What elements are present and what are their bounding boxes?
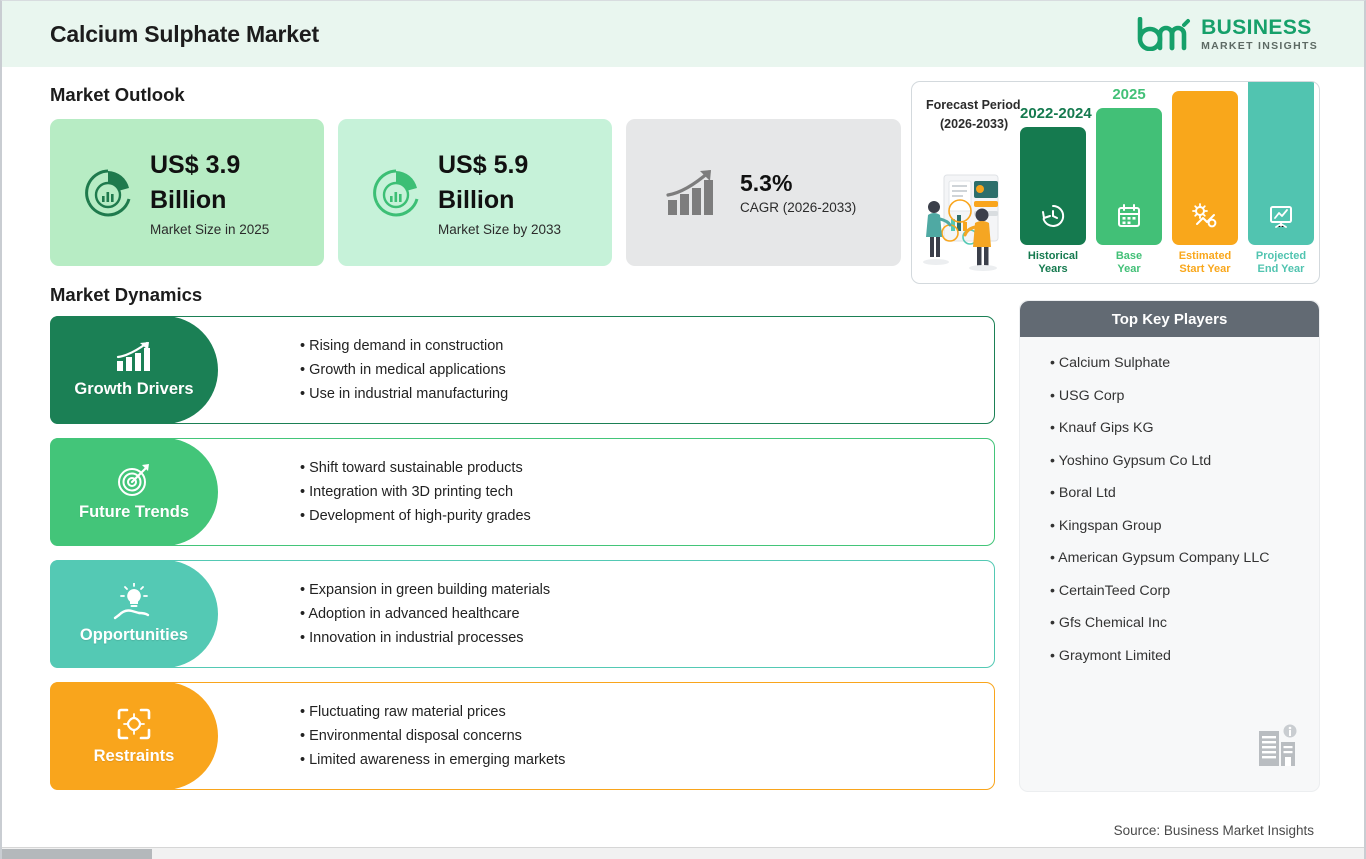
infographic-page: Calcium Sulphate Market BUSINESS MARKET … bbox=[0, 0, 1366, 859]
bar-caption-line2: Year bbox=[1096, 263, 1162, 277]
list-item: Boral Ltd bbox=[1050, 485, 1319, 501]
market-size-2025-card: US$ 3.9 Billion Market Size in 2025 bbox=[50, 119, 324, 266]
bar-shape bbox=[1096, 108, 1162, 245]
forecast-bars: 2022-2024 Historical Years 2025 bbox=[1012, 82, 1320, 284]
top-key-players-title: Top Key Players bbox=[1020, 301, 1319, 337]
page-title: Calcium Sulphate Market bbox=[50, 21, 319, 48]
forecast-bar-historical: 2022-2024 Historical Years bbox=[1020, 105, 1086, 278]
dynamics-tab: Opportunities bbox=[50, 560, 218, 668]
horizontal-scrollbar[interactable] bbox=[2, 847, 1364, 859]
card-value-line2: Billion bbox=[150, 183, 269, 218]
top-key-players-panel: Top Key Players Calcium Sulphate USG Cor… bbox=[1019, 300, 1320, 792]
dynamics-points: Rising demand in construction Growth in … bbox=[218, 317, 994, 423]
list-item: USG Corp bbox=[1050, 388, 1319, 404]
lightbulb-hand-icon bbox=[113, 583, 155, 621]
dynamics-point: Environmental disposal concerns bbox=[300, 728, 994, 744]
forecast-label-line1: Forecast Period bbox=[926, 96, 1020, 115]
dynamics-point: Adoption in advanced healthcare bbox=[300, 606, 994, 622]
growth-arrow-chart-icon bbox=[664, 167, 722, 219]
dynamics-row-growth-drivers: Growth Drivers Rising demand in construc… bbox=[50, 316, 995, 424]
dynamics-point: Innovation in industrial processes bbox=[300, 630, 994, 646]
bar-caption-line1: Base bbox=[1096, 250, 1162, 264]
dynamics-tab-label: Restraints bbox=[94, 747, 175, 766]
cagr-card: 5.3% CAGR (2026-2033) bbox=[626, 119, 901, 266]
dynamics-row-opportunities: Opportunities Expansion in green buildin… bbox=[50, 560, 995, 668]
forecast-bar-projected: 2033 Projected End Year bbox=[1248, 81, 1314, 277]
dynamics-point: Rising demand in construction bbox=[300, 338, 994, 354]
forecast-bar-estimated: 2026 Estimated Start Year bbox=[1172, 81, 1238, 277]
calendar-icon bbox=[1116, 203, 1142, 229]
bar-year-label: 2025 bbox=[1096, 86, 1162, 103]
card-value-line2: Billion bbox=[438, 183, 561, 218]
forecast-label-line2: (2026-2033) bbox=[926, 115, 1020, 134]
list-item: Gfs Chemical Inc bbox=[1050, 615, 1319, 631]
card-text: US$ 5.9 Billion Market Size by 2033 bbox=[438, 148, 561, 237]
dynamics-tab-label: Growth Drivers bbox=[74, 380, 193, 399]
dynamics-points: Expansion in green building materials Ad… bbox=[218, 561, 994, 667]
list-item: Kingspan Group bbox=[1050, 518, 1319, 534]
list-item: CertainTeed Corp bbox=[1050, 583, 1319, 599]
card-text: 5.3% CAGR (2026-2033) bbox=[740, 170, 856, 215]
bar-shape bbox=[1172, 91, 1238, 245]
dynamics-point: Limited awareness in emerging markets bbox=[300, 752, 994, 768]
list-item: Yoshino Gypsum Co Ltd bbox=[1050, 453, 1319, 469]
card-value-line1: US$ 5.9 bbox=[438, 148, 561, 183]
dynamics-point: Development of high-purity grades bbox=[300, 508, 994, 524]
donut-chart-icon bbox=[80, 165, 136, 221]
bar-shape bbox=[1020, 127, 1086, 245]
logo-primary-text: BUSINESS bbox=[1201, 17, 1318, 38]
market-dynamics-title: Market Dynamics bbox=[50, 284, 202, 306]
card-value-line1: US$ 3.9 bbox=[150, 148, 269, 183]
gear-settings-icon bbox=[1192, 203, 1218, 229]
list-item: American Gypsum Company LLC bbox=[1050, 550, 1319, 566]
list-item: Knauf Gips KG bbox=[1050, 420, 1319, 436]
scrollbar-thumb[interactable] bbox=[2, 849, 152, 859]
brand-logo: BUSINESS MARKET INSIGHTS bbox=[1136, 17, 1318, 52]
bar-caption-line1: Estimated bbox=[1172, 250, 1238, 264]
dynamics-tab: Growth Drivers bbox=[50, 316, 218, 424]
cagr-caption: CAGR (2026-2033) bbox=[740, 200, 856, 215]
page-header: Calcium Sulphate Market BUSINESS MARKET … bbox=[2, 1, 1364, 67]
market-outlook-title: Market Outlook bbox=[50, 84, 185, 106]
forecast-bar-base: 2025 Base Year bbox=[1096, 86, 1162, 278]
key-players-list: Calcium Sulphate USG Corp Knauf Gips KG … bbox=[1020, 337, 1319, 664]
source-caption: Source: Business Market Insights bbox=[1114, 823, 1314, 838]
bar-caption-line2: Start Year bbox=[1172, 263, 1238, 277]
dynamics-point: Use in industrial manufacturing bbox=[300, 386, 994, 402]
bar-caption-line2: End Year bbox=[1248, 263, 1314, 277]
dynamics-point: Fluctuating raw material prices bbox=[300, 704, 994, 720]
list-item: Calcium Sulphate bbox=[1050, 355, 1319, 371]
company-buildings-info-icon bbox=[1256, 724, 1300, 768]
bar-chart-arrow-icon bbox=[114, 341, 154, 375]
bar-caption-line2: Years bbox=[1020, 263, 1086, 277]
clock-history-icon bbox=[1040, 203, 1066, 229]
market-size-2033-card: US$ 5.9 Billion Market Size by 2033 bbox=[338, 119, 612, 266]
bar-caption-line1: Historical bbox=[1020, 250, 1086, 264]
dynamics-tab: Future Trends bbox=[50, 438, 218, 546]
target-dart-icon bbox=[115, 462, 153, 498]
forecast-label: Forecast Period (2026-2033) bbox=[926, 96, 1020, 134]
bar-year-label: 2026 bbox=[1172, 81, 1238, 86]
market-outlook-cards: US$ 3.9 Billion Market Size in 2025 US$ … bbox=[50, 119, 901, 266]
dynamics-points: Shift toward sustainable products Integr… bbox=[218, 439, 994, 545]
dynamics-point: Growth in medical applications bbox=[300, 362, 994, 378]
bar-caption-line1: Projected bbox=[1248, 250, 1314, 264]
cagr-value: 5.3% bbox=[740, 170, 856, 197]
dynamics-row-restraints: Restraints Fluctuating raw material pric… bbox=[50, 682, 995, 790]
bar-shape bbox=[1248, 81, 1314, 245]
card-text: US$ 3.9 Billion Market Size in 2025 bbox=[150, 148, 269, 237]
presentation-board-icon bbox=[1268, 203, 1294, 229]
donut-chart-icon bbox=[368, 165, 424, 221]
list-item: Graymont Limited bbox=[1050, 648, 1319, 664]
card-caption: Market Size in 2025 bbox=[150, 222, 269, 237]
dynamics-tab-label: Future Trends bbox=[79, 503, 189, 522]
dynamics-row-future-trends: Future Trends Shift toward sustainable p… bbox=[50, 438, 995, 546]
bar-year-label: 2022-2024 bbox=[1020, 105, 1086, 122]
logo-secondary-text: MARKET INSIGHTS bbox=[1201, 41, 1318, 52]
bmi-logo-icon bbox=[1136, 17, 1192, 51]
card-caption: Market Size by 2033 bbox=[438, 222, 561, 237]
dynamics-point: Integration with 3D printing tech bbox=[300, 484, 994, 500]
team-dashboard-illustration bbox=[920, 167, 1012, 272]
market-dynamics-list: Growth Drivers Rising demand in construc… bbox=[50, 316, 995, 804]
forecast-period-panel: Forecast Period (2026-2033) bbox=[911, 81, 1320, 284]
dynamics-points: Fluctuating raw material prices Environm… bbox=[218, 683, 994, 789]
dynamics-point: Shift toward sustainable products bbox=[300, 460, 994, 476]
dynamics-tab-label: Opportunities bbox=[80, 626, 188, 645]
dynamics-tab: Restraints bbox=[50, 682, 218, 790]
constraint-bracket-icon bbox=[115, 706, 153, 742]
dynamics-point: Expansion in green building materials bbox=[300, 582, 994, 598]
